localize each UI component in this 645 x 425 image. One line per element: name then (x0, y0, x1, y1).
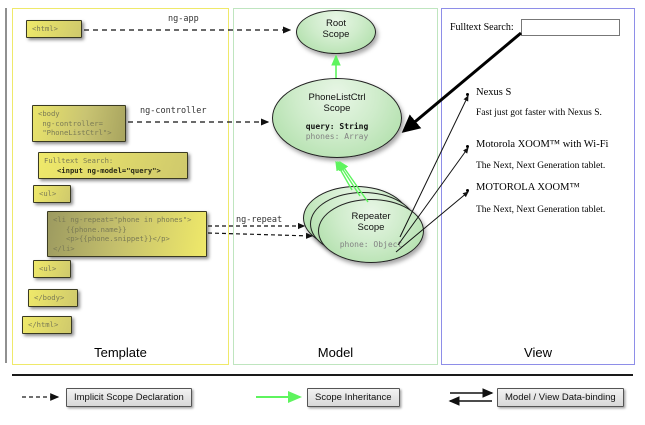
scope-prop-phones: phones: Array (273, 132, 401, 142)
edge-label-ng-repeat: ng-repeat (236, 215, 282, 225)
panel-label-model: Model (234, 345, 437, 360)
code-box-ul-open: <ul> (33, 185, 71, 203)
view-phone-name-1: Motorola XOOM™ with Wi-Fi (476, 139, 608, 150)
legend-glyph-double-arrow (450, 393, 492, 401)
code-box-li-ng-repeat: <li ng-repeat="phone in phones"> {{phone… (47, 211, 207, 257)
view-bullet-2 (466, 189, 469, 192)
view-phone-name-0: Nexus S (476, 87, 511, 98)
code-box-fulltext-search: Fulltext Search: <input ng-model="query"… (38, 152, 188, 179)
view-phone-snippet-0: Fast just got faster with Nexus S. (476, 108, 602, 118)
legend-divider (12, 374, 633, 376)
scope-phonelistctrl: PhoneListCtrlScope query: String phones:… (272, 78, 402, 158)
code-box-html-open: <html> (26, 20, 82, 38)
view-search-input[interactable] (521, 19, 620, 36)
scope-phonelistctrl-title: PhoneListCtrlScope (273, 79, 401, 115)
code-box-html-close: </html> (22, 316, 72, 334)
edge-label-ng-app: ng-app (168, 14, 199, 24)
legend-item-implicit-scope: Implicit Scope Declaration (66, 388, 192, 407)
panel-label-template: Template (13, 345, 228, 360)
legend-item-scope-inheritance: Scope Inheritance (307, 388, 400, 407)
edge-label-ng-controller: ng-controller (140, 106, 207, 116)
view-phone-snippet-1: The Next, Next Generation tablet. (476, 161, 605, 171)
code-box-ul-close: <ul> (33, 260, 71, 278)
scope-prop-phone: phone: Object (319, 240, 423, 250)
scope-repeater: RepeaterScope phone: Object (318, 199, 424, 263)
scope-root: RootScope (296, 10, 376, 54)
view-phone-snippet-2: The Next, Next Generation tablet. (476, 205, 605, 215)
view-bullet-0 (466, 93, 469, 96)
view-bullet-1 (466, 145, 469, 148)
code-box-body: <body ng-controller= "PhoneListCtrl"> (32, 105, 126, 142)
scope-prop-query: query: String (273, 122, 401, 132)
legend-item-data-binding: Model / View Data-binding (497, 388, 624, 407)
panel-model: Model (233, 8, 438, 365)
scope-repeater-title: RepeaterScope (319, 200, 423, 234)
panel-label-view: View (442, 345, 634, 360)
code-box-body-close: </body> (28, 289, 78, 307)
view-phone-name-2: MOTOROLA XOOM™ (476, 182, 580, 193)
scope-root-title: RootScope (297, 11, 375, 41)
diagram-canvas: Template Model View <html> <body ng-cont… (0, 0, 645, 425)
view-search-label: Fulltext Search: (450, 22, 514, 33)
